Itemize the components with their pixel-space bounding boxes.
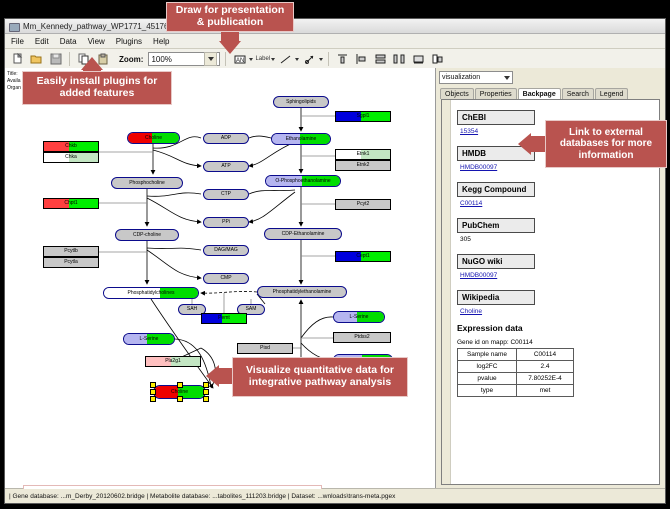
zoom-label: Zoom: (119, 55, 143, 64)
tab-search[interactable]: Search (562, 88, 594, 99)
share-banner: Share on Wikipathways.org (23, 485, 322, 489)
chevron-down-icon[interactable] (249, 58, 253, 61)
node-label: Pemt (218, 316, 230, 321)
expr-val-log2fc: 2.4 (517, 361, 574, 373)
node-label: Phosphatidylethanolamine (273, 290, 332, 295)
node-label: Pisd (260, 346, 270, 351)
toolbar-separator (69, 52, 70, 66)
align-top-icon[interactable] (334, 51, 351, 68)
selection-handle[interactable] (150, 382, 156, 388)
pathway-node-pisd[interactable]: Pisd (237, 343, 293, 354)
pathway-node-ctp[interactable]: CTP (203, 189, 249, 200)
node-label: DAG/MAG (214, 248, 238, 253)
pathway-node-ethanolamine-top[interactable]: Ethanolamine (271, 133, 331, 145)
pathway-drawing[interactable]: Title: Availa Organ (5, 68, 435, 489)
node-label: Etnk1 (357, 152, 370, 157)
pathvisio-icon (8, 21, 19, 32)
chevron-down-icon[interactable] (319, 58, 323, 61)
table-row: log2FC 2.4 (458, 361, 574, 373)
selection-handle[interactable] (150, 396, 156, 402)
visualization-value: visualization (442, 74, 504, 81)
expr-key-type: type (458, 385, 517, 397)
pathway-node-l-serine-left[interactable]: L-Serine (123, 333, 175, 345)
node-label: SAM (246, 307, 257, 312)
selection-handle[interactable] (203, 389, 209, 395)
callout-links-arrow (518, 133, 531, 155)
pathway-node-etnk1[interactable]: Etnk1 (335, 149, 391, 160)
db-header-kegg-compound: Kegg Compound (457, 182, 535, 197)
pathway-canvas[interactable]: Title: Availa Organ (5, 68, 436, 489)
callout-draw: Draw for presentation & publication (166, 2, 294, 32)
expression-data-table: Sample name C00114 log2FC 2.4 pvalue 7.8… (457, 348, 574, 397)
node-label: CTP (221, 192, 231, 197)
expr-key-log2fc: log2FC (458, 361, 517, 373)
node-label: CMP (220, 276, 231, 281)
node-label: Chkb (65, 144, 77, 149)
tab-objects[interactable]: Objects (440, 88, 474, 99)
align-left-icon[interactable] (353, 51, 370, 68)
toolbar-separator (328, 52, 329, 66)
callout-visualize-arrow (206, 365, 219, 387)
node-label: CDP-Ethanolamine (282, 232, 325, 237)
pathway-node-choline-top[interactable]: Choline (127, 132, 180, 144)
zoom-combo[interactable]: 100% (148, 52, 220, 66)
node-label: Cept1 (356, 254, 369, 259)
gene-id-on-mapp: Gene id on mapp: C00114 (457, 339, 653, 346)
chevron-down-icon[interactable] (504, 76, 510, 80)
status-bar-text: | Gene database: ...m_Derby_20120602.bri… (9, 493, 395, 500)
db-header-chebi: ChEBI (457, 110, 535, 125)
pathway-node-chkb[interactable]: Chkb (43, 141, 99, 152)
db-link-nugo-wiki[interactable]: HMDB00097 (460, 272, 653, 279)
pathway-node-cmp[interactable]: CMP (203, 273, 249, 284)
db-entry-kegg: Kegg Compound C00114 (457, 179, 653, 207)
node-label: SAH (187, 307, 197, 312)
tab-backpage[interactable]: Backpage (518, 88, 561, 99)
open-file-icon[interactable] (28, 51, 45, 68)
table-row: Sample name C00114 (458, 349, 574, 361)
pathway-node-pcytlb[interactable]: Pcytlb (43, 246, 99, 257)
pathway-node-dag-mag[interactable]: DAG/MAG (203, 245, 249, 256)
pathway-node-phosphocholine[interactable]: Phosphocholine (111, 177, 183, 189)
pathway-node-cept1[interactable]: Cept1 (335, 251, 391, 262)
window-title: Mm_Kennedy_pathway_WP1771_45176.gpml (23, 22, 188, 31)
node-label: O-Phosphoethanolamine (275, 179, 330, 184)
status-bar: | Gene database: ...m_Derby_20120602.bri… (5, 488, 665, 503)
save-file-icon[interactable] (47, 51, 64, 68)
node-label: Ethanolamine (286, 137, 317, 142)
menu-file[interactable]: File (9, 36, 26, 47)
visualization-combo[interactable]: visualization (439, 71, 513, 84)
pathway-node-etnk2[interactable]: Etnk2 (335, 160, 391, 171)
label-tool-label: Label (255, 56, 270, 62)
pathway-node-sphingolipids[interactable]: Sphingolipids (273, 96, 329, 108)
callout-draw-arrow (219, 41, 241, 54)
callout-plugins-arrow (81, 57, 103, 70)
pathway-node-cdp-choline[interactable]: CDP-choline (115, 229, 179, 241)
pathway-node-l-serine-right[interactable]: L-Serine (333, 311, 385, 323)
chevron-down-icon[interactable] (204, 52, 217, 66)
line-icon[interactable] (277, 51, 294, 68)
node-label: Ptdss2 (354, 335, 369, 340)
pathway-node-phosphatidylethanolamine[interactable]: Phosphatidylethanolamine (257, 286, 347, 298)
db-value-pubchem: 305 (460, 236, 653, 243)
pathway-node-pla2g1[interactable]: Pla2g1 (145, 356, 201, 367)
node-label: ATP (221, 164, 230, 169)
order-front-icon[interactable] (429, 51, 446, 68)
table-row: type met (458, 385, 574, 397)
node-label: Choline (171, 390, 188, 395)
expr-key-pvalue: pvalue (458, 373, 517, 385)
menu-plugins[interactable]: Plugins (114, 36, 144, 47)
label-tool[interactable]: Label (255, 56, 275, 62)
node-label: L-Serine (350, 315, 369, 320)
stack-vertical-icon[interactable] (372, 51, 389, 68)
table-row: pvalue 7.80252E-4 (458, 373, 574, 385)
tab-legend[interactable]: Legend (595, 88, 628, 99)
db-header-nugo-wiki: NuGO wiki (457, 254, 535, 269)
toolbar-separator (225, 52, 226, 66)
menu-view[interactable]: View (86, 36, 107, 47)
node-label: Pla2g1 (165, 359, 181, 364)
screenshot-root: Mm_Kennedy_pathway_WP1771_45176.gpml Fil… (0, 0, 670, 509)
db-link-wikipedia[interactable]: Choline (460, 308, 653, 315)
line-tool[interactable] (277, 51, 299, 68)
node-label: Pcyt2 (357, 202, 370, 207)
pathway-node-pcytla[interactable]: Pcytla (43, 257, 99, 268)
callout-visualize: Visualize quantitative data for integrat… (232, 357, 408, 397)
node-label: Pcytla (64, 260, 78, 265)
backpage-scrollbar[interactable] (442, 100, 451, 484)
db-header-wikipedia: Wikipedia (457, 290, 535, 305)
pathway-node-ptdss2[interactable]: Ptdss2 (333, 332, 391, 343)
node-label: PPi (222, 220, 230, 225)
node-label: Pcytlb (64, 249, 78, 254)
menu-bar: File Edit Data View Plugins Help (5, 34, 665, 49)
pathway-node-chpt1[interactable]: Chpt1 (43, 198, 99, 209)
selection-handle[interactable] (177, 382, 183, 388)
zoom-value: 100% (151, 55, 204, 64)
interaction-tool[interactable] (301, 51, 323, 68)
expression-data-title: Expression data (457, 323, 653, 333)
node-label: ADP (221, 136, 231, 141)
selection-handle[interactable] (177, 396, 183, 402)
chevron-down-icon[interactable] (271, 58, 275, 61)
expr-val-type: met (517, 385, 574, 397)
side-panel-tabs: Objects Properties Backpage Search Legen… (436, 85, 665, 99)
node-label: CDP-choline (133, 233, 161, 238)
pathway-node-phosphatidylcholines[interactable]: Phosphatidylcholines (103, 287, 199, 299)
pathway-node-o-phosphoethanolamine[interactable]: O-Phosphoethanolamine (265, 175, 341, 187)
db-entry-nugo: NuGO wiki HMDB00097 (457, 251, 653, 279)
pathway-node-cdp-ethanolamine[interactable]: CDP-Ethanolamine (264, 228, 342, 240)
toolbar: Zoom: 100% AN Label (5, 49, 665, 70)
menu-help[interactable]: Help (151, 36, 171, 47)
new-file-icon[interactable] (9, 51, 26, 68)
menu-edit[interactable]: Edit (33, 36, 51, 47)
node-label: Choline (145, 136, 162, 141)
node-label: Sgpl1 (357, 114, 370, 119)
svg-text:AN: AN (236, 58, 244, 64)
pathway-node-pcyt2[interactable]: Pcyt2 (335, 199, 391, 210)
pathway-node-sgpl1[interactable]: Sgpl1 (335, 111, 391, 122)
node-label: Sphingolipids (286, 100, 316, 105)
pathway-node-ppi[interactable]: PPi (203, 217, 249, 228)
selection-handle[interactable] (203, 396, 209, 402)
visualization-chooser[interactable]: visualization (436, 68, 665, 85)
menu-data[interactable]: Data (58, 36, 79, 47)
pathway-node-adp[interactable]: ADP (203, 133, 249, 144)
node-label: Etnk2 (357, 163, 370, 168)
node-label: Phosphocholine (129, 181, 165, 186)
pathway-node-atp[interactable]: ATP (203, 161, 249, 172)
chevron-down-icon[interactable] (295, 58, 299, 61)
node-label: Chka (65, 155, 77, 160)
node-label: Phosphatidylcholines (128, 291, 175, 296)
pathway-node-pemt[interactable]: Pemt (201, 313, 247, 324)
expr-key-sample-name: Sample name (458, 349, 517, 361)
expr-val-sample-name: C00114 (517, 349, 574, 361)
db-entry-wikipedia: Wikipedia Choline (457, 287, 653, 315)
tab-properties[interactable]: Properties (475, 88, 517, 99)
node-label: L-Serine (140, 337, 159, 342)
selection-handle[interactable] (150, 389, 156, 395)
callout-plugins: Easily install plugins for added feature… (22, 71, 172, 105)
callout-links: Link to external databases for more info… (545, 120, 667, 168)
pathway-node-chka[interactable]: Chka (43, 152, 99, 163)
distribute-horizontal-icon[interactable] (391, 51, 408, 68)
window-title-bar: Mm_Kennedy_pathway_WP1771_45176.gpml (5, 19, 665, 34)
db-entry-pubchem: PubChem 305 (457, 215, 653, 243)
expr-val-pvalue: 7.80252E-4 (517, 373, 574, 385)
db-link-kegg-compound[interactable]: C00114 (460, 200, 653, 207)
interaction-icon[interactable] (301, 51, 318, 68)
node-label: Chpt1 (64, 201, 77, 206)
group-icon[interactable] (410, 51, 427, 68)
db-header-pubchem: PubChem (457, 218, 535, 233)
